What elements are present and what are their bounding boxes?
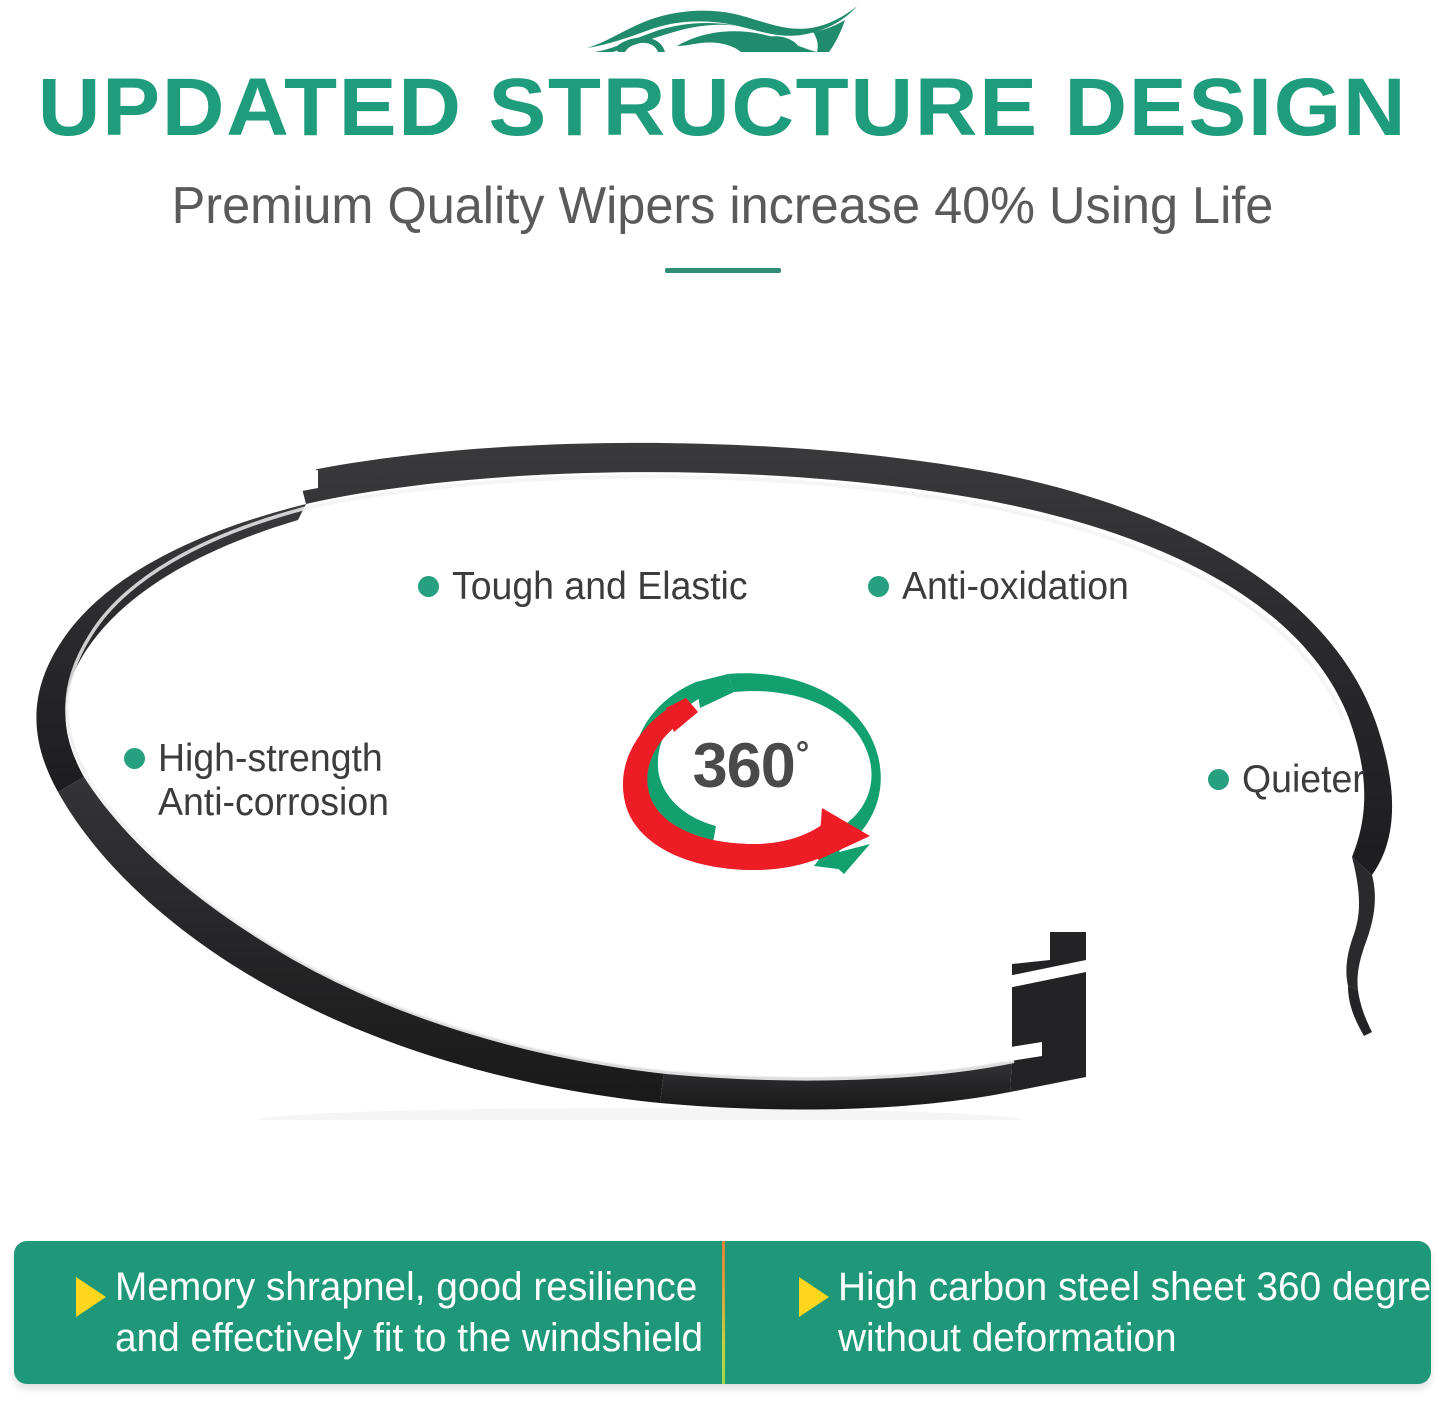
banner-text-line2: without deformation <box>838 1313 1431 1364</box>
page-title: UPDATED STRUCTURE DESIGN <box>0 62 1445 154</box>
benefits-banner: Memory shrapnel, good resilience and eff… <box>14 1241 1431 1384</box>
feature-label: Quieter <box>1242 758 1365 802</box>
bullet-dot-icon <box>1208 769 1229 790</box>
feature-tough-and-elastic: Tough and Elastic <box>418 565 760 609</box>
feature-quieter: Quieter <box>1208 758 1370 802</box>
brand-logo <box>0 2 1445 62</box>
banner-text-line2: and effectively fit to the windshield <box>115 1313 703 1364</box>
feature-high-strength-anti-corrosion: High-strength Anti-corrosion <box>124 737 399 825</box>
banner-text-line1: High carbon steel sheet 360 degrees <box>838 1265 1431 1309</box>
banner-item-memory-shrapnel: Memory shrapnel, good resilience and eff… <box>14 1241 721 1384</box>
marketing-infographic: UPDATED STRUCTURE DESIGN Premium Quality… <box>0 0 1445 1421</box>
feature-label-line2: Anti-corrosion <box>158 781 389 825</box>
banner-text-line1: Memory shrapnel, good resilience <box>115 1265 697 1309</box>
triangle-bullet-icon <box>76 1277 106 1317</box>
feature-label: Tough and Elastic <box>452 565 748 609</box>
badge-360-degrees: 360° <box>578 660 918 875</box>
bullet-dot-icon <box>418 576 439 597</box>
banner-text: High carbon steel sheet 360 degrees with… <box>838 1262 1431 1364</box>
triangle-bullet-icon <box>799 1277 829 1317</box>
badge-value: 360 <box>693 730 795 802</box>
banner-text: Memory shrapnel, good resilience and eff… <box>115 1262 703 1364</box>
bullet-dot-icon <box>124 748 145 769</box>
banner-item-high-carbon-steel: High carbon steel sheet 360 degrees with… <box>721 1241 1431 1384</box>
feature-label: High-strength Anti-corrosion <box>158 737 389 825</box>
car-silhouette-icon <box>573 2 873 60</box>
feature-label: Anti-oxidation <box>902 565 1129 609</box>
feature-anti-oxidation: Anti-oxidation <box>868 565 1138 609</box>
bullet-dot-icon <box>868 576 889 597</box>
page-subtitle: Premium Quality Wipers increase 40% Usin… <box>22 175 1424 237</box>
title-divider <box>665 268 781 273</box>
feature-label-line1: High-strength <box>158 737 383 780</box>
badge-360-label: 360° <box>578 660 918 875</box>
